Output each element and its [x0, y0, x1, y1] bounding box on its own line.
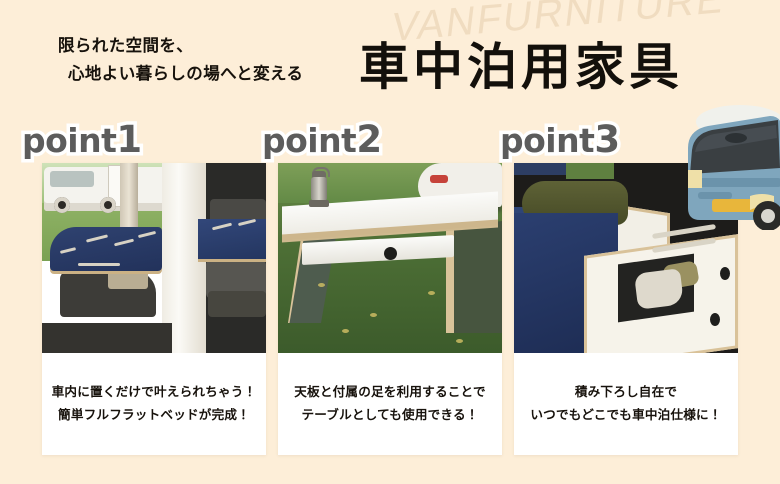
feature-caption-3-line1: 積み下ろし自在で	[575, 381, 677, 404]
point-badge-2: point2	[262, 118, 382, 161]
feature-caption-3: 積み下ろし自在で いつでもどこでも車中泊仕様に！	[514, 353, 738, 455]
feature-caption-1: 車内に置くだけで叶えられちゃう！ 簡単フルフラットベッドが完成！	[42, 353, 266, 455]
point-badge-3: point3	[500, 118, 620, 161]
feature-card-2: 天板と付属の足を利用することで テーブルとしても使用できる！	[278, 163, 502, 455]
point-badge-2-label: point	[262, 121, 356, 160]
van-illustration	[678, 104, 780, 230]
feature-caption-2-line2: テーブルとしても使用できる！	[301, 404, 478, 427]
feature-caption-1-line1: 車内に置くだけで叶えられちゃう！	[52, 381, 257, 404]
lead-copy: 限られた空間を、 心地よい暮らしの場へと変える	[58, 32, 303, 89]
point-badge-1: point1	[22, 118, 142, 161]
lead-copy-line1: 限られた空間を、	[58, 37, 193, 55]
promo-banner: VANFURNITURE 限られた空間を、 心地よい暮らしの場へと変える 車中泊…	[0, 0, 780, 484]
point-badge-1-label: point	[22, 121, 116, 160]
van-icon	[678, 104, 780, 230]
license-plate-icon	[712, 199, 756, 212]
point-badge-3-number: 3	[594, 118, 619, 161]
point-badge-1-number: 1	[116, 118, 141, 161]
feature-card-1: 車内に置くだけで叶えられちゃう！ 簡単フルフラットベッドが完成！	[42, 163, 266, 455]
lead-copy-line2: 心地よい暮らしの場へと変える	[58, 60, 303, 88]
feature-caption-2: 天板と付属の足を利用することで テーブルとしても使用できる！	[278, 353, 502, 455]
feature-caption-1-line2: 簡単フルフラットベッドが完成！	[58, 404, 250, 427]
point-badge-2-number: 2	[356, 118, 381, 161]
feature-photo-1	[42, 163, 266, 353]
feature-caption-2-line1: 天板と付属の足を利用することで	[294, 381, 486, 404]
lantern-icon	[308, 167, 330, 209]
feature-photo-2	[278, 163, 502, 353]
page-title: 車中泊用家具	[359, 42, 683, 92]
point-badge-3-label: point	[500, 121, 594, 160]
feature-card-list: 車内に置くだけで叶えられちゃう！ 簡単フルフラットベッドが完成！	[0, 118, 780, 484]
banner-header: VANFURNITURE 限られた空間を、 心地よい暮らしの場へと変える 車中泊…	[0, 0, 780, 118]
feature-caption-3-line2: いつでもどこでも車中泊仕様に！	[530, 404, 721, 427]
